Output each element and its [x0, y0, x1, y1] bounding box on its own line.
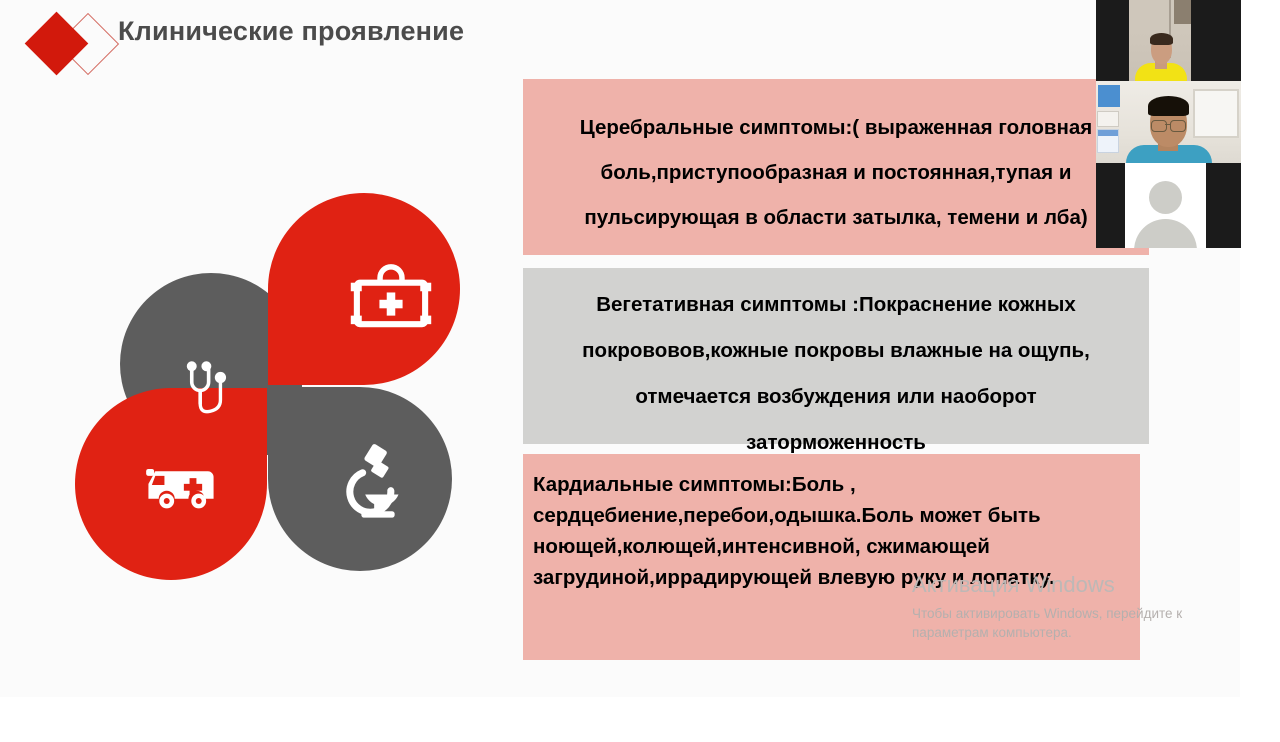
participant-1-video-feed: [1129, 0, 1191, 81]
background-poster-bottom-header: [1098, 130, 1118, 136]
participant-1-hair: [1150, 33, 1173, 45]
red-diamond-logo-icon: [22, 12, 114, 74]
textbox-line: отмечается возбуждения или наоборот: [545, 374, 1127, 420]
participant-2-video-feed: [1096, 81, 1241, 163]
textbox-line: боль,приступообразная и постоянная,тупая…: [541, 150, 1131, 195]
video-tile-participant-3[interactable]: [1096, 163, 1241, 248]
participant-2-glasses-right: [1170, 120, 1186, 132]
video-tile-participant-1[interactable]: [1096, 0, 1241, 81]
avatar-icon: [1149, 181, 1182, 214]
background-whiteboard: [1193, 89, 1239, 138]
textbox-vegetative-symptoms: Вегетативная симптомы :Покраснение кожны…: [523, 268, 1149, 444]
page-title: Клинические проявление: [118, 16, 464, 47]
textbox-cardiac-symptoms: Кардиальные симптомы:Боль , сердцебиение…: [523, 454, 1140, 660]
slide-canvas: Клинические проявление: [0, 0, 1240, 697]
textbox-line: покрововов,кожные покровы влажные на ощу…: [545, 328, 1127, 374]
textbox-line: пульсирующая в области затылка, темени и…: [541, 195, 1131, 240]
textbox-line: сердцебиение,перебои,одышка.Боль может б…: [533, 500, 1126, 531]
background-poster-middle: [1097, 111, 1119, 127]
textbox-line: загрудиной,иррадирующей влевую руку и ло…: [533, 562, 1126, 593]
video-tile-participant-2[interactable]: [1096, 81, 1241, 163]
medical-kit-icon: [343, 253, 439, 349]
textbox-cerebral-symptoms: Церебральные симптомы:( выраженная голов…: [523, 79, 1149, 255]
medical-clover-graphic: [75, 193, 460, 568]
microscope-icon: [333, 438, 423, 528]
textbox-line: Вегетативная симптомы :Покраснение кожны…: [545, 282, 1127, 328]
participant-2-glasses-bridge: [1165, 124, 1170, 125]
slide-header: Клинические проявление: [0, 0, 1240, 70]
participant-3-placeholder: [1125, 163, 1206, 248]
avatar-body-shape: [1134, 219, 1197, 248]
textbox-line: Церебральные симптомы:( выраженная голов…: [541, 105, 1131, 150]
background-poster-top: [1098, 85, 1120, 107]
background-doorframe: [1174, 0, 1191, 24]
participant-2-hair: [1148, 96, 1189, 116]
textbox-line: ноющей,колющей,интенсивной, сжимающей: [533, 531, 1126, 562]
textbox-line: Кардиальные симптомы:Боль ,: [533, 469, 1126, 500]
ambulance-icon: [137, 437, 233, 533]
background-poster-bottom: [1097, 129, 1119, 153]
stethoscope-icon: [163, 351, 243, 431]
presentation-screen: Клинические проявление: [0, 0, 1280, 742]
video-call-panel[interactable]: [1096, 0, 1241, 248]
participant-2-glasses-left: [1151, 120, 1167, 132]
